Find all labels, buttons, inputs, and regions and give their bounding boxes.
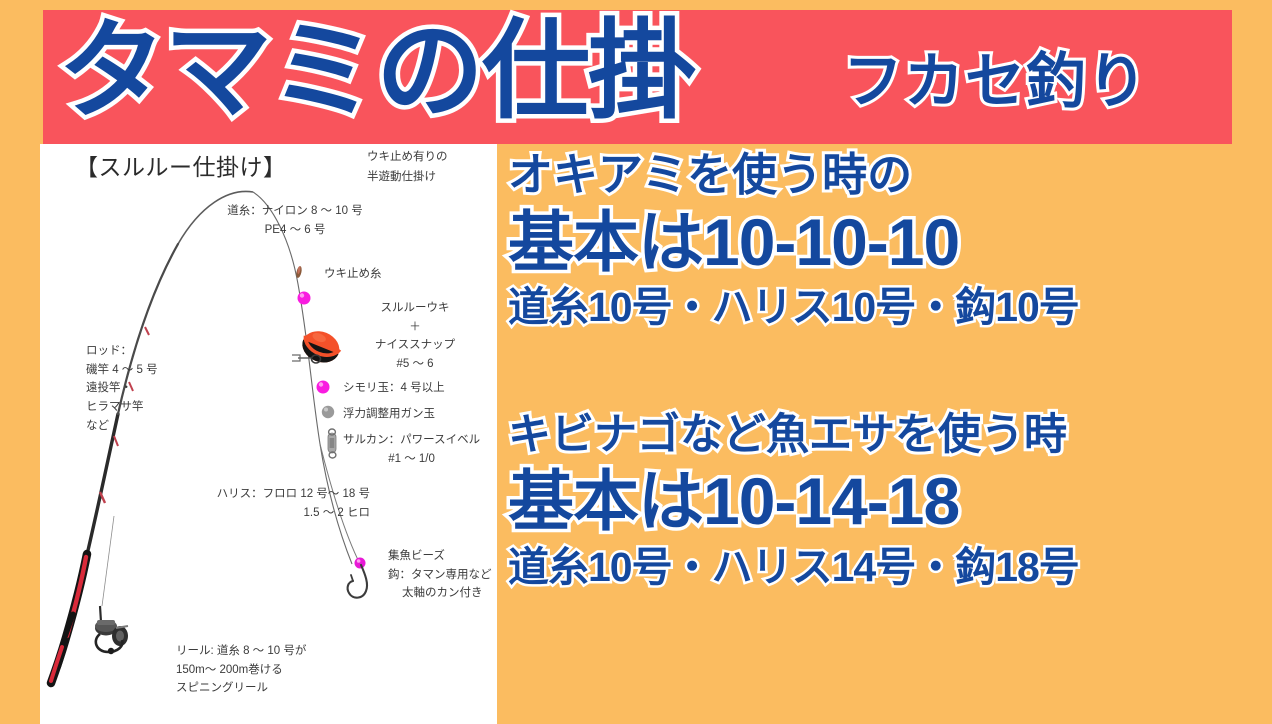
okiami-heading: オキアミを使う時の (508, 150, 1253, 200)
shimoridama-highlight (319, 382, 323, 386)
label-float-line4: #5 〜 6 (340, 355, 490, 374)
label-rod-line4: ヒラマサ竿 (86, 398, 158, 417)
label-hook-line1: 鈎：タマン専用など (388, 566, 492, 585)
label-swivel-line1: サルカン：パワースイベル (343, 431, 480, 450)
label-hook-line2: 太軸のカン付き (388, 584, 492, 603)
fish-bait-detail: 道糸10号・ハリス14号・鈎18号 (508, 543, 1253, 592)
label-rod: ロッド： 磯竿 4 〜 5 号 遠投竿・ ヒラマサ竿 など (86, 342, 158, 435)
label-reel-line3: スピニングリール (176, 679, 306, 698)
label-gandama: 浮力調整用ガン玉 (343, 405, 435, 424)
fish-bait-heading: キビナゴなど魚エサを使う時 (508, 412, 1253, 459)
recommendation-column: オキアミを使う時の 基本は10-10-10 道糸10号・ハリス10号・鈎10号 … (508, 150, 1253, 710)
attractor-bead-icon (355, 558, 366, 569)
okiami-detail: 道糸10号・ハリス10号・鈎10号 (508, 283, 1253, 332)
okiami-formula: 基本は10-10-10 (508, 202, 1253, 283)
page-subtitle: フカセ釣り (843, 46, 1148, 118)
rod-grip (51, 554, 87, 683)
float-icon (298, 326, 344, 368)
page-title: タマミの仕掛 (58, 2, 694, 140)
label-float-line3: ナイススナップ (340, 336, 490, 355)
hook-icon (348, 565, 367, 598)
label-mainline: 道糸：ナイロン 8 〜 10 号 PE4 〜 6 号 (205, 202, 385, 239)
label-float-line1: スルルーウキ (340, 299, 490, 318)
label-rod-line1: ロッド： (86, 342, 158, 361)
fish-bait-formula: 基本は10-14-18 (508, 461, 1253, 542)
label-harisu: ハリス：フロロ 12 号〜 18 号 1.5 〜 2 ヒロ (190, 485, 370, 522)
label-reel: リール: 道糸 8 〜 10 号が 150m〜 200m巻ける スピニングリール (176, 642, 306, 698)
label-swivel-line2: #1 〜 1/0 (343, 450, 480, 469)
tackle-diagram-panel: 【スルルー仕掛け】 ウキ止め有りの 半遊動仕掛け (40, 144, 497, 724)
label-harisu-line1: ハリス：フロロ 12 号〜 18 号 (190, 485, 370, 504)
bead-upper-icon (298, 292, 311, 305)
title-band: タマミの仕掛 フカセ釣り (43, 10, 1232, 144)
label-swivel: サルカン：パワースイベル #1 〜 1/0 (343, 431, 480, 468)
label-shimoridama: シモリ玉：4 号以上 (343, 379, 445, 398)
recommendation-block-fish-bait: キビナゴなど魚エサを使う時 基本は10-14-18 道糸10号・ハリス14号・鈎… (508, 412, 1253, 592)
bead-upper-highlight (300, 293, 304, 297)
power-swivel-icon (328, 429, 336, 458)
label-float-line2: ＋ (340, 318, 490, 337)
attractor-bead-highlight (357, 559, 361, 563)
label-hook-group: 集魚ビーズ 鈎：タマン専用など 太軸のカン付き (388, 547, 492, 603)
label-uki-stopper: ウキ止め糸 (324, 265, 382, 284)
spinning-reel-icon (95, 606, 128, 654)
label-rod-line5: など (86, 417, 158, 436)
label-rod-line3: 遠投竿・ (86, 379, 158, 398)
label-harisu-line2: 1.5 〜 2 ヒロ (190, 504, 370, 523)
recommendation-block-okiami: オキアミを使う時の 基本は10-10-10 道糸10号・ハリス10号・鈎10号 (508, 150, 1253, 332)
label-rod-line2: 磯竿 4 〜 5 号 (86, 361, 158, 380)
label-reel-line1: リール: 道糸 8 〜 10 号が (176, 642, 306, 661)
label-beads: 集魚ビーズ (388, 547, 492, 566)
shimoridama-bead-icon (317, 381, 330, 394)
gandama-shot-icon (322, 406, 334, 418)
gandama-highlight (324, 408, 328, 412)
label-mainline-line1: 道糸：ナイロン 8 〜 10 号 (205, 202, 385, 221)
label-mainline-line2: PE4 〜 6 号 (205, 221, 385, 240)
label-float: スルルーウキ ＋ ナイススナップ #5 〜 6 (340, 299, 490, 374)
reel-line (102, 516, 114, 606)
label-reel-line2: 150m〜 200m巻ける (176, 661, 306, 680)
